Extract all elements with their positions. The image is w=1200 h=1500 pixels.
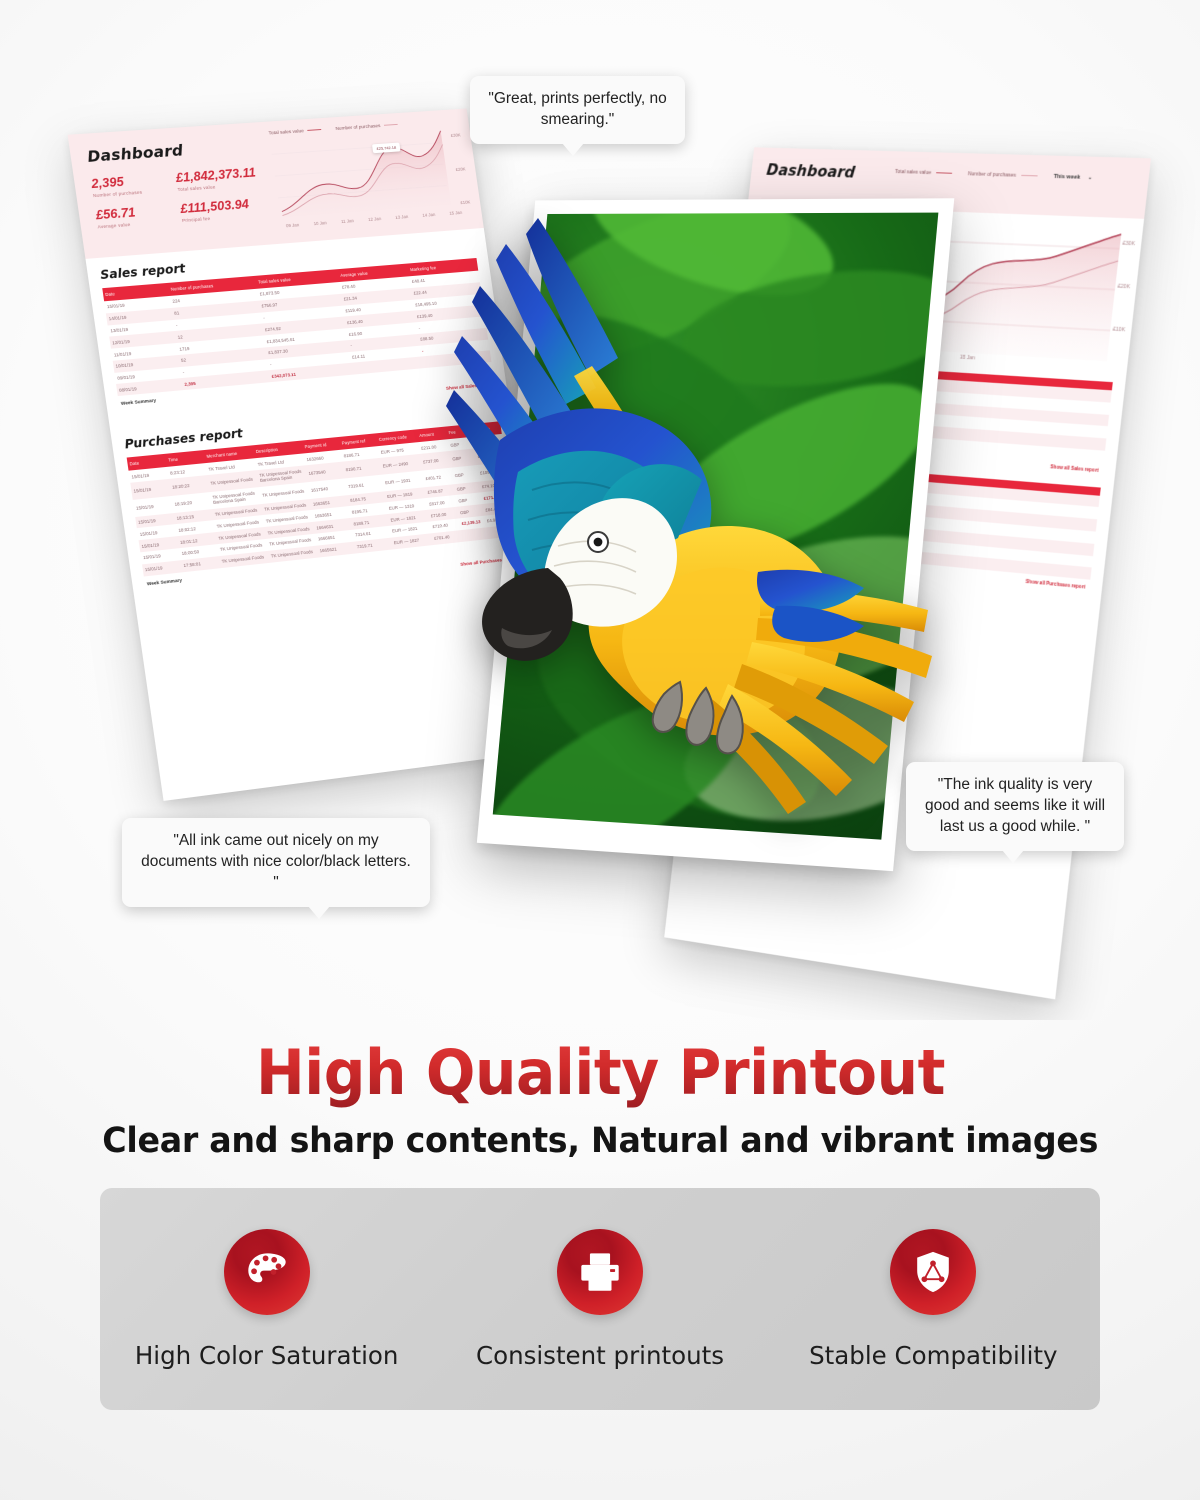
left-chart-svg [263, 124, 471, 224]
page-subtitle: Clear and sharp contents, Natural and vi… [102, 1121, 1098, 1161]
purchases-report-block: Purchases report Date Time Merchant name… [111, 397, 533, 615]
right-ytick-0: £30K [1122, 241, 1135, 248]
headline-block: High Quality Printout Clear and sharp co… [0, 1036, 1200, 1161]
right-ytick-2: £10K [1112, 327, 1125, 334]
right-xtick-3: 15 Jan [959, 355, 975, 362]
left-dashboard-title: Dashboard [86, 141, 184, 166]
kpi-number-of-purchases: 2,395 Number of purchases [90, 171, 178, 198]
palette-icon [224, 1229, 310, 1315]
page-title: High Quality Printout [255, 1036, 944, 1109]
feature-panel: High Color Saturation Consistent printou… [100, 1188, 1100, 1410]
kpi-principal-fee: £111,503.94 Principal fee [179, 196, 265, 223]
kpi-group: 2,395 Number of purchases £1,842,373.11 … [90, 165, 267, 239]
right-ytick-1: £20K [1117, 284, 1130, 291]
left-chart: Total sales value Number of purchases [262, 119, 474, 247]
parrot-photo [493, 213, 939, 840]
printer-icon [557, 1229, 643, 1315]
testimonial-bubble-2: "All ink came out nicely on my documents… [122, 818, 430, 907]
feature-stable-compatibility: Stable Compatibility [767, 1229, 1100, 1370]
right-legend-purchases: Number of purchases [968, 171, 1038, 179]
chevron-down-icon: ⌄ [1088, 175, 1093, 181]
hero-printout-scene: Dashboard Total sales value Number of pu… [0, 0, 1200, 1020]
right-range-selector[interactable]: This week ⌄ [1053, 174, 1093, 181]
kpi-total-sales-value: £1,842,373.11 Total sales value [175, 165, 261, 192]
shield-icon [890, 1229, 976, 1315]
feature-label: Consistent printouts [433, 1341, 766, 1370]
right-dashboard-title: Dashboard [766, 161, 857, 181]
feature-high-color-saturation: High Color Saturation [100, 1229, 433, 1370]
printout-left: Dashboard 2,395 Number of purchases £1,8… [68, 108, 559, 800]
testimonial-bubble-1: "Great, prints perfectly, no smearing." [470, 76, 685, 144]
feature-label: Stable Compatibility [767, 1341, 1100, 1370]
feature-consistent-printouts: Consistent printouts [433, 1229, 766, 1370]
feature-label: High Color Saturation [100, 1341, 433, 1370]
chart-tooltip: £25,742.18 [372, 143, 401, 154]
kpi-average-value: £56.71 Average value [95, 202, 183, 229]
testimonial-bubble-3: "The ink quality is very good and seems … [906, 762, 1124, 851]
right-legend-sales: Total sales value [895, 169, 953, 177]
photo-printout [477, 198, 954, 871]
